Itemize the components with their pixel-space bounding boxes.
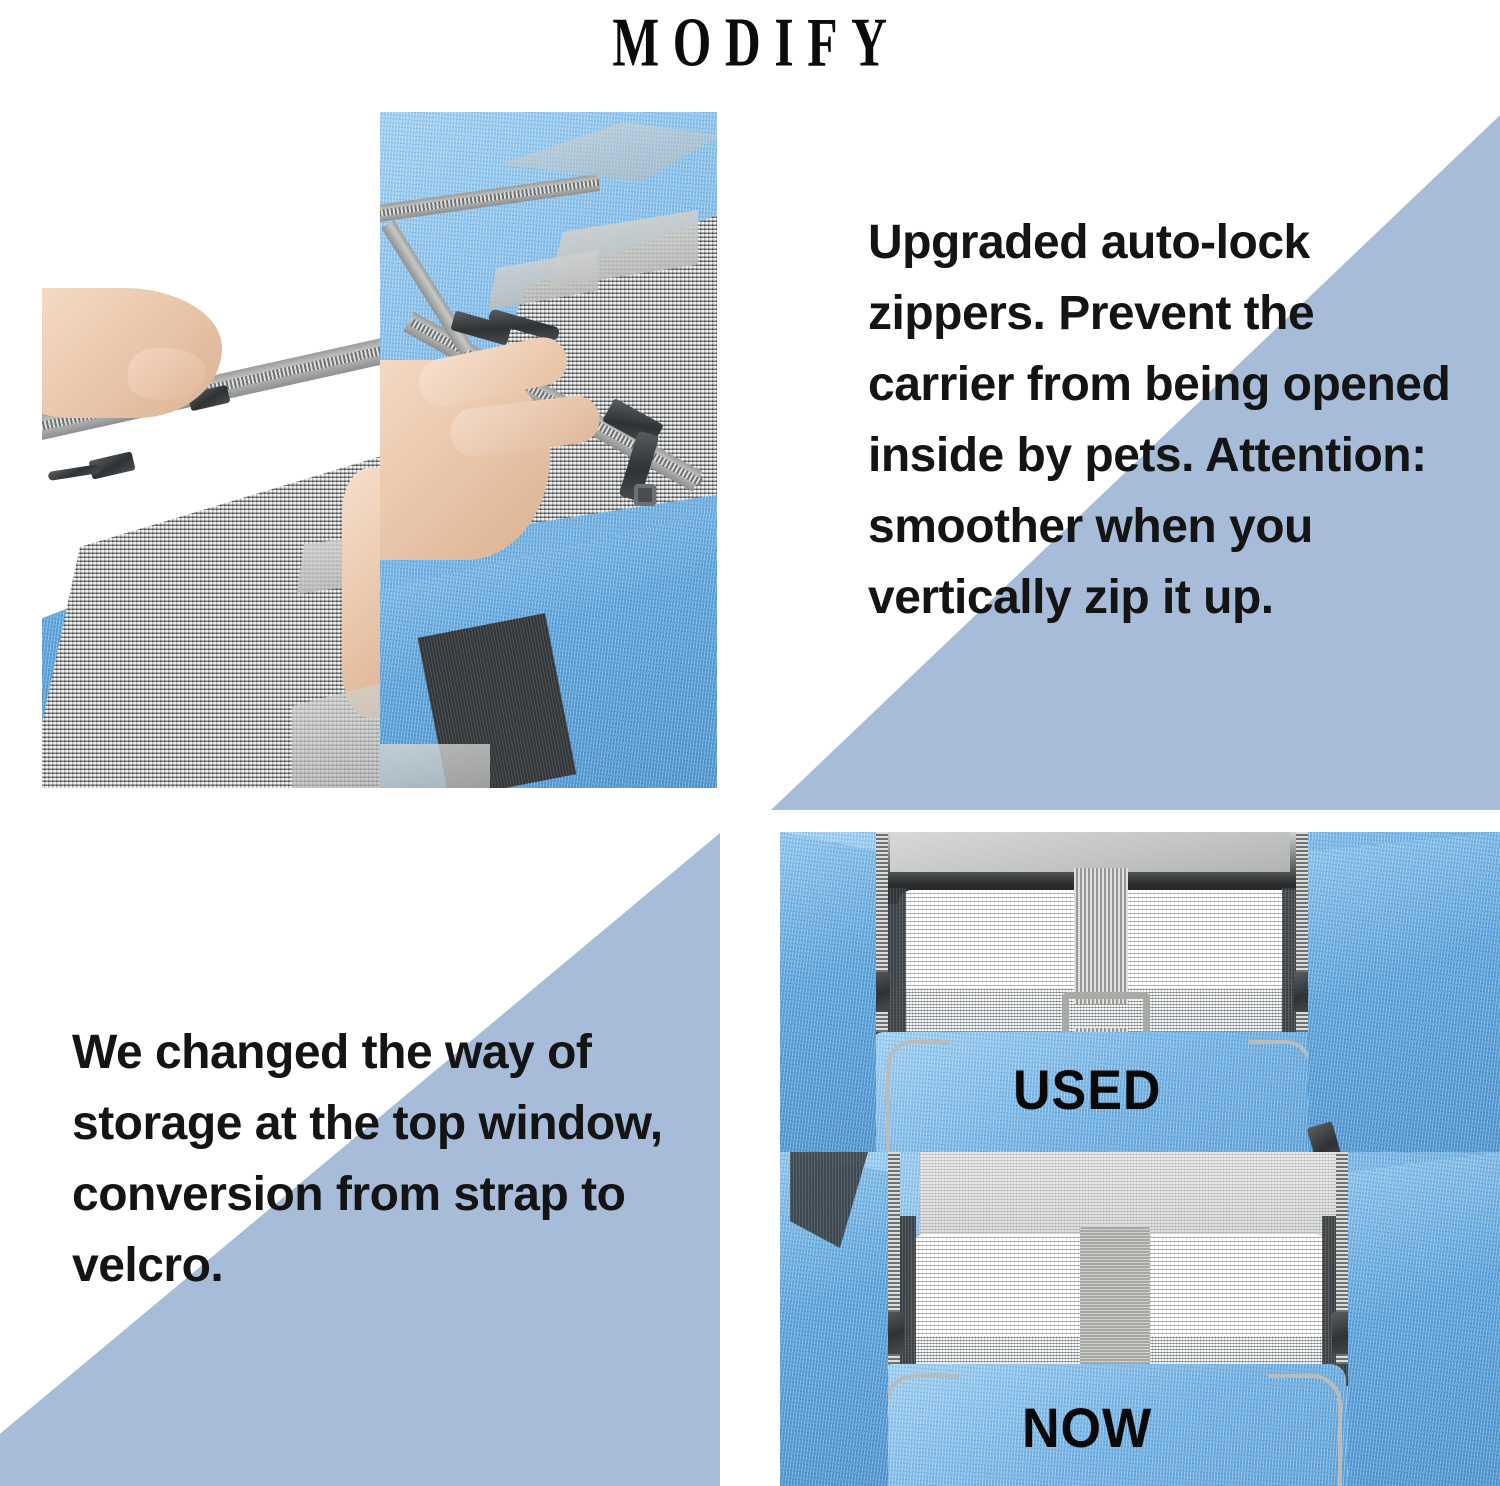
flap-zipper-arc-right [1248,1040,1312,1152]
retaining-strap-webbing [1074,868,1128,1004]
hand-pulling-zipper [42,288,222,418]
flap-zipper-arc-left [886,1040,950,1152]
flap-zipper-arc-left-now [884,1374,958,1486]
used-label: USED [1013,1062,1161,1118]
bottom-base-edge [380,744,490,788]
now-label: NOW [1022,1400,1152,1456]
top-feature-copy: Upgraded auto-lock zippers. Prevent the … [868,207,1468,633]
page-title-text: MODIFY [599,8,901,77]
flap-zipper-arc-right-now [1268,1374,1342,1486]
bottom-feature-copy: We changed the way of storage at the top… [72,1017,712,1301]
right-side-body-used [1308,832,1500,1152]
page-title: MODIFY [0,0,1500,86]
auto-lock-zipper-photo-right [380,112,717,788]
right-side-body-now [1348,1152,1500,1486]
top-inner-liner [890,832,1290,872]
infographic-page: MODIFY [0,0,1500,1486]
auto-lock-zipper-photo-left [42,240,380,788]
velcro-retaining-band [1080,1226,1150,1386]
left-side-body-used [780,832,876,1152]
auto-lock-zipper-tab-ring [634,484,656,506]
second-hand-edge [342,468,380,718]
